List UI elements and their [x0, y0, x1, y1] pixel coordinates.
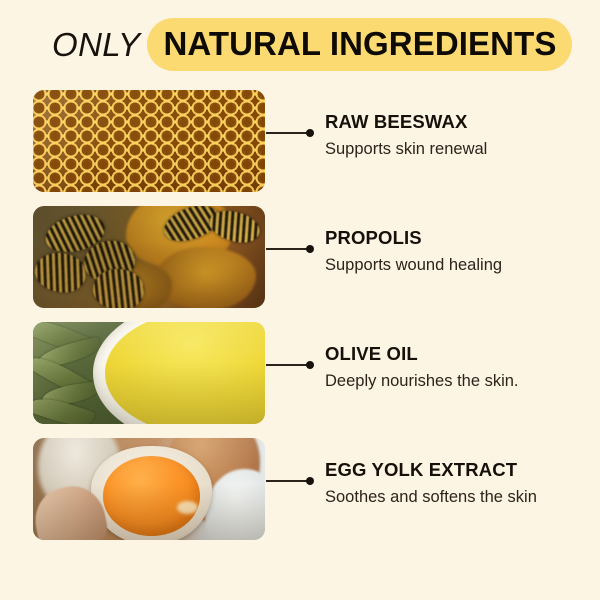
- connector-dot-icon: [306, 361, 314, 369]
- title-prefix: ONLY: [52, 28, 147, 61]
- connector-dot-icon: [306, 477, 314, 485]
- ingredient-text-2: PROPOLIS Supports wound healing: [325, 228, 593, 275]
- honeycomb-texture: [33, 90, 265, 192]
- ingredient-image-olive-oil: [33, 322, 265, 424]
- ingredient-subtitle: Deeply nourishes the skin.: [325, 372, 593, 391]
- ingredient-image-propolis: [33, 206, 265, 308]
- ingredient-row: OLIVE OIL Deeply nourishes the skin.: [0, 322, 600, 438]
- photo-shading: [33, 322, 265, 424]
- ingredient-subtitle: Soothes and softens the skin: [325, 488, 593, 507]
- ingredient-title: RAW BEESWAX: [325, 112, 593, 131]
- connector-dot-icon: [306, 245, 314, 253]
- ingredient-text-4: EGG YOLK EXTRACT Soothes and softens the…: [325, 460, 593, 507]
- connector-stroke: [266, 480, 308, 482]
- connector-line-1: [266, 128, 316, 138]
- olive-oil-photo: [33, 322, 265, 424]
- ingredient-row: PROPOLIS Supports wound healing: [0, 206, 600, 322]
- ingredient-image-egg-yolk: [33, 438, 265, 540]
- ingredient-row: EGG YOLK EXTRACT Soothes and softens the…: [0, 438, 600, 554]
- photo-shading: [33, 438, 265, 540]
- ingredient-list: RAW BEESWAX Supports skin renewal: [0, 90, 600, 554]
- honeycomb-shading: [33, 90, 265, 192]
- ingredient-image-raw-beeswax: [33, 90, 265, 192]
- connector-stroke: [266, 248, 308, 250]
- ingredient-title: OLIVE OIL: [325, 344, 593, 363]
- photo-shading: [33, 206, 265, 308]
- ingredient-subtitle: Supports skin renewal: [325, 140, 593, 159]
- egg-yolk-photo: [33, 438, 265, 540]
- connector-dot-icon: [306, 129, 314, 137]
- ingredient-text-1: RAW BEESWAX Supports skin renewal: [325, 112, 593, 159]
- connector-line-4: [266, 476, 316, 486]
- connector-line-3: [266, 360, 316, 370]
- title-highlight: NATURAL INGREDIENTS: [147, 18, 572, 71]
- page-title: ONLY NATURAL INGREDIENTS: [0, 14, 600, 74]
- ingredient-text-3: OLIVE OIL Deeply nourishes the skin.: [325, 344, 593, 391]
- ingredient-subtitle: Supports wound healing: [325, 256, 593, 275]
- ingredient-row: RAW BEESWAX Supports skin renewal: [0, 90, 600, 206]
- ingredient-title: EGG YOLK EXTRACT: [325, 460, 593, 479]
- ingredient-title: PROPOLIS: [325, 228, 593, 247]
- connector-stroke: [266, 364, 308, 366]
- bees-propolis-photo: [33, 206, 265, 308]
- connector-stroke: [266, 132, 308, 134]
- connector-line-2: [266, 244, 316, 254]
